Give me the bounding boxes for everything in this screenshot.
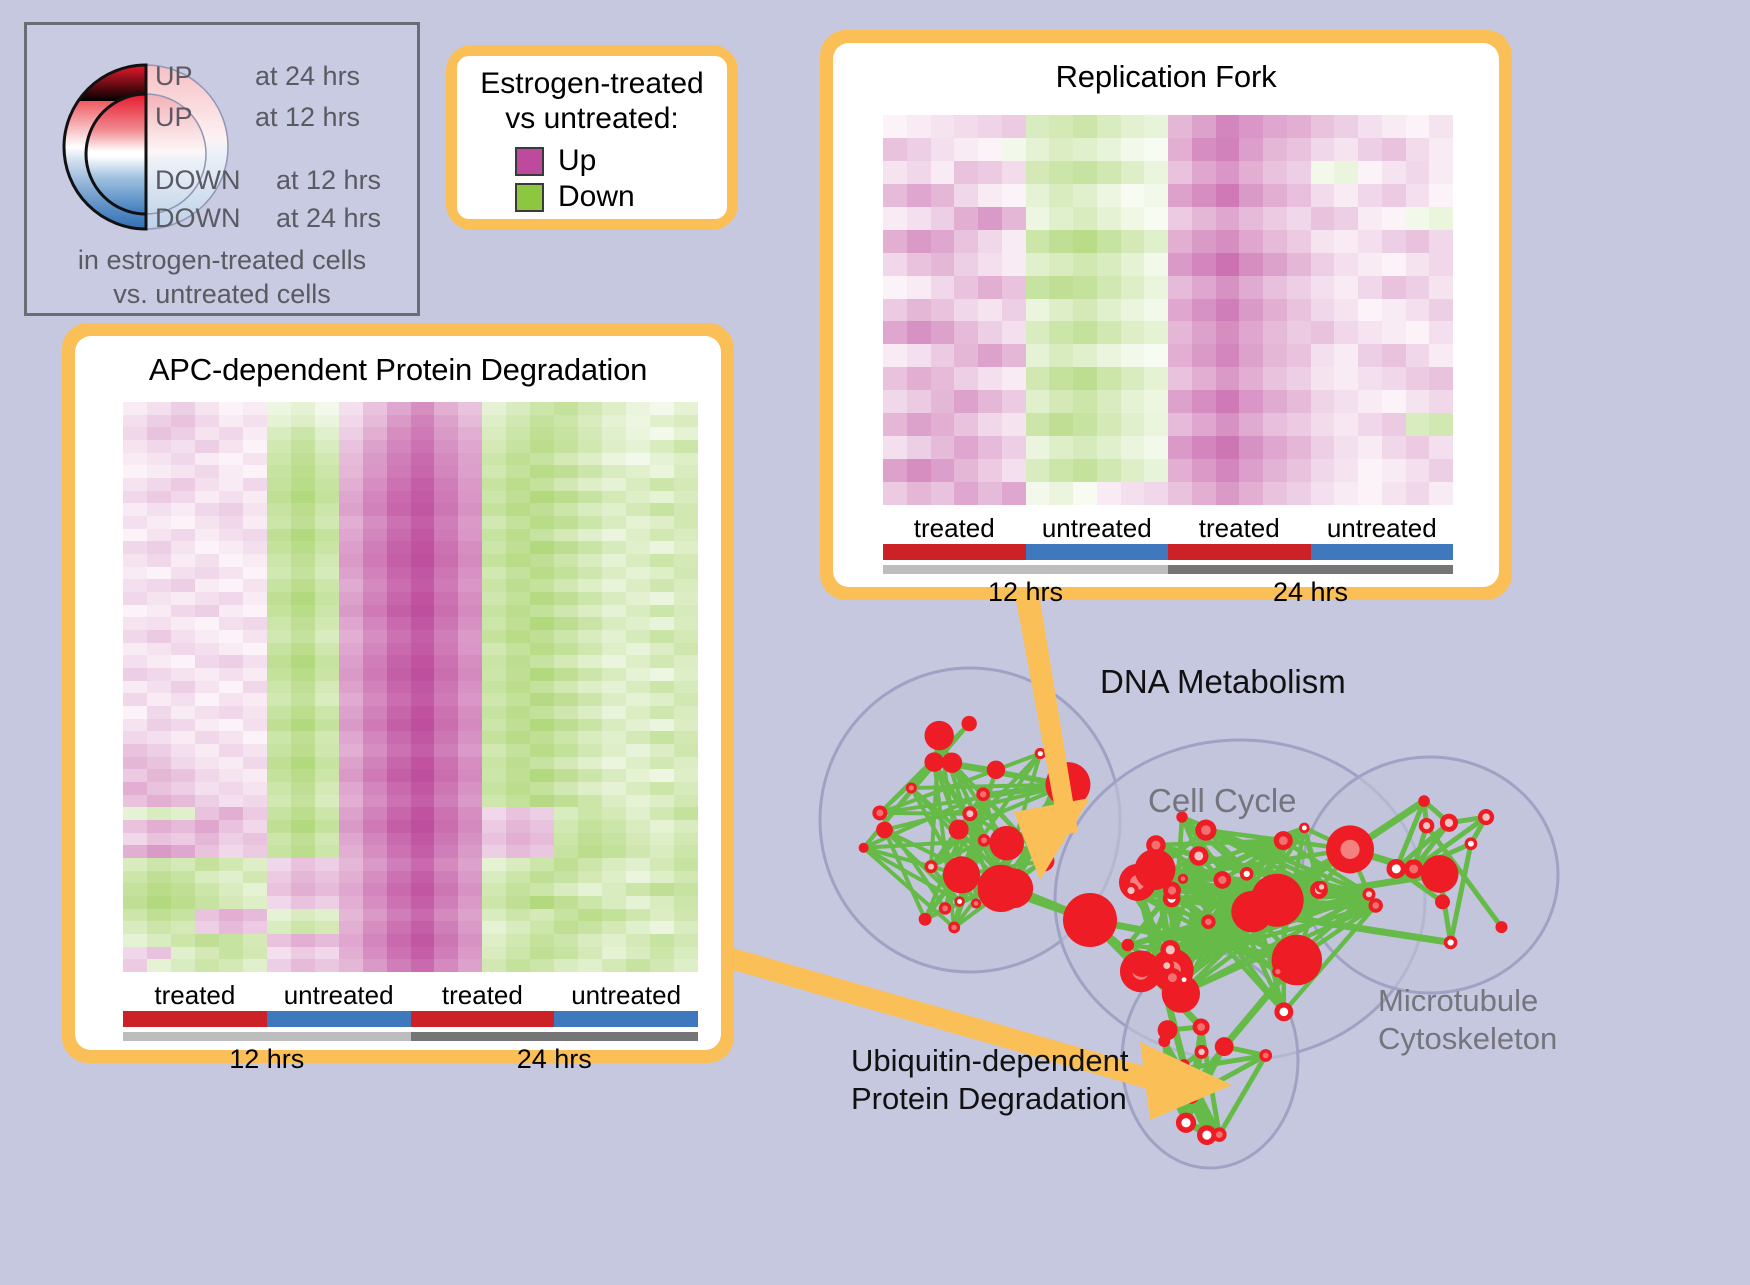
heatmap-cell [482, 909, 506, 922]
heatmap-cell [147, 896, 171, 909]
heatmap-cell [482, 465, 506, 478]
legend-title-line1: Estrogen-treated [457, 66, 727, 101]
heatmap-cell [315, 503, 339, 516]
heatmap-cell [123, 731, 147, 744]
heatmap-cell [434, 883, 458, 896]
heatmap-cell [387, 934, 411, 947]
heatmap-cell [363, 415, 387, 428]
heatmap-cell [1382, 161, 1406, 184]
heatmap-cell [506, 782, 530, 795]
network-node[interactable] [1158, 1035, 1170, 1047]
rf-bar-treated-24 [1168, 544, 1311, 560]
heatmap-cell [602, 427, 626, 440]
heatmap-cell [243, 947, 267, 960]
network-node[interactable] [859, 843, 869, 853]
network-node[interactable] [906, 782, 917, 793]
heatmap-cell [650, 833, 674, 846]
network-node[interactable] [943, 856, 980, 893]
heatmap-cell [434, 605, 458, 618]
network-node[interactable] [978, 834, 991, 847]
heatmap-cell [506, 440, 530, 453]
heatmap-cell [1121, 207, 1145, 230]
heatmap-cell [147, 833, 171, 846]
heatmap-cell [363, 630, 387, 643]
heatmap-cell [602, 453, 626, 466]
network-node[interactable] [1362, 888, 1375, 901]
heatmap-cell [339, 491, 363, 504]
heatmap-cell [315, 934, 339, 947]
heatmap-cell [626, 858, 650, 871]
heatmap-cell [267, 541, 291, 554]
heatmap-cell [1358, 184, 1382, 207]
heatmap-cell [650, 845, 674, 858]
heatmap-cell [1429, 276, 1453, 299]
network-node[interactable] [876, 822, 893, 839]
network-node[interactable] [1163, 882, 1181, 900]
heatmap-cell [219, 617, 243, 630]
heatmap-cell [387, 921, 411, 934]
network-node[interactable] [1326, 825, 1374, 873]
network-node[interactable] [1465, 837, 1478, 850]
heatmap-cell [458, 681, 482, 694]
heatmap-cell [171, 503, 195, 516]
heatmap-cell [626, 820, 650, 833]
heatmap-cell [267, 402, 291, 415]
heatmap-cell [123, 833, 147, 846]
heatmap-cell [650, 782, 674, 795]
heatmap-cell [363, 959, 387, 972]
network-node[interactable] [942, 752, 962, 772]
network-node[interactable] [1159, 958, 1174, 973]
heatmap-cell [219, 681, 243, 694]
network-node[interactable] [962, 806, 977, 821]
heatmap-cell [1216, 207, 1240, 230]
heatmap-cell [1097, 367, 1121, 390]
heatmap-cell [482, 402, 506, 415]
heatmap-cell [219, 833, 243, 846]
network-node[interactable] [1240, 867, 1254, 881]
heatmap-cell [626, 630, 650, 643]
network-node[interactable] [1444, 936, 1458, 950]
heatmap-cell [1097, 207, 1121, 230]
heatmap-cell [482, 541, 506, 554]
heatmap-cell [363, 909, 387, 922]
network-node[interactable] [1000, 883, 1019, 902]
heatmap-cell [315, 947, 339, 960]
heatmap-cell [1026, 161, 1050, 184]
heatmap-cell [1334, 321, 1358, 344]
heatmap-cell [1073, 367, 1097, 390]
heatmap-cell [1002, 321, 1026, 344]
heatmap-cell [243, 909, 267, 922]
heatmap-cell [578, 655, 602, 668]
heatmap-cell [650, 554, 674, 567]
network-node[interactable] [872, 805, 887, 820]
network-node[interactable] [1299, 823, 1310, 834]
heatmap-cell [315, 465, 339, 478]
heatmap-cell [219, 554, 243, 567]
heatmap-cell [219, 643, 243, 656]
heatmap-cell [339, 706, 363, 719]
heatmap-cell [123, 719, 147, 732]
heatmap-cell [339, 757, 363, 770]
heatmap-cell [291, 757, 315, 770]
heatmap-cell [291, 554, 315, 567]
heatmap-cell [315, 605, 339, 618]
heatmap-cell [1406, 138, 1430, 161]
heatmap-cell [650, 858, 674, 871]
heatmap-cell [1073, 138, 1097, 161]
heatmap-cell [434, 744, 458, 757]
heatmap-cell [363, 693, 387, 706]
heatmap-cell [171, 833, 195, 846]
heatmap-cell [482, 795, 506, 808]
heatmap-cell [195, 769, 219, 782]
heatmap-cell [339, 478, 363, 491]
heatmap-cell [506, 402, 530, 415]
heatmap-cell [123, 871, 147, 884]
heatmap-cell [363, 757, 387, 770]
heatmap-cell [411, 605, 435, 618]
heatmap-cell [1358, 207, 1382, 230]
network-node[interactable] [976, 787, 990, 801]
network-node[interactable] [987, 761, 1006, 780]
heatmap-cell [1239, 253, 1263, 276]
heatmap-cell [1311, 299, 1335, 322]
heatmap-cell [530, 465, 554, 478]
heatmap-cell [1239, 367, 1263, 390]
heatmap-cell [219, 503, 243, 516]
heatmap-cell [1287, 253, 1311, 276]
heatmap-cell [1144, 138, 1168, 161]
heatmap-cell [626, 427, 650, 440]
heatmap-cell [147, 858, 171, 871]
heatmap-cell [1049, 230, 1073, 253]
network-node[interactable] [1033, 850, 1054, 871]
heatmap-cell [554, 541, 578, 554]
network-node[interactable] [1212, 1127, 1227, 1142]
heatmap-cell [363, 402, 387, 415]
network-node[interactable] [1419, 818, 1434, 833]
heatmap-cell [1382, 253, 1406, 276]
heatmap-cell [1168, 184, 1192, 207]
heatmap-cell [411, 427, 435, 440]
heatmap-cell [530, 681, 554, 694]
heatmap-cell [339, 567, 363, 580]
heatmap-cell [1049, 344, 1073, 367]
heatmap-cell [363, 871, 387, 884]
heatmap-cell [219, 896, 243, 909]
heatmap-cell [458, 592, 482, 605]
heatmap-cell [219, 782, 243, 795]
heatmap-cell [315, 782, 339, 795]
heatmap-cell [387, 731, 411, 744]
heatmap-cell [1002, 367, 1026, 390]
heatmap-cell [195, 440, 219, 453]
heatmap-cell [978, 207, 1002, 230]
heatmap-cell [1049, 482, 1073, 505]
network-node[interactable] [1418, 795, 1430, 807]
apc-time-bars [123, 1032, 698, 1041]
heatmap-cell [602, 567, 626, 580]
heatmap-cell [626, 605, 650, 618]
heatmap-cell [530, 529, 554, 542]
network-node[interactable] [1404, 859, 1423, 878]
network-node[interactable] [1478, 809, 1494, 825]
heatmap-cell [363, 503, 387, 516]
network-node[interactable] [1122, 939, 1135, 952]
heatmap-cell [1144, 344, 1168, 367]
pathway-network-diagram [790, 620, 1590, 1280]
heatmap-cell [1144, 413, 1168, 436]
network-node[interactable] [1153, 1063, 1169, 1079]
network-node[interactable] [1495, 921, 1507, 933]
network-node[interactable] [1179, 974, 1190, 985]
network-node[interactable] [925, 860, 938, 873]
color-key-footer: in estrogen-treated cells vs. untreated … [27, 243, 417, 311]
heatmap-cell [883, 184, 907, 207]
heatmap-cell [243, 465, 267, 478]
network-node[interactable] [1189, 846, 1209, 866]
network-node[interactable] [939, 902, 952, 915]
network-node[interactable] [1063, 893, 1117, 947]
heatmap-cell [171, 643, 195, 656]
network-node[interactable] [1231, 891, 1273, 933]
network-node[interactable] [1179, 1059, 1190, 1070]
heatmap-cell [1192, 367, 1216, 390]
heatmap-cell [554, 655, 578, 668]
heatmap-cell [578, 491, 602, 504]
color-key-box: UP at 24 hrs UP at 12 hrs DOWN at 12 hrs… [24, 22, 420, 316]
heatmap-cell [530, 567, 554, 580]
heatmap-cell [1168, 482, 1192, 505]
network-node[interactable] [1130, 953, 1154, 977]
network-node[interactable] [1160, 940, 1180, 960]
heatmap-cell [931, 161, 955, 184]
heatmap-cell [195, 947, 219, 960]
heatmap-cell [578, 503, 602, 516]
heatmap-cell [1192, 436, 1216, 459]
heatmap-cell [219, 807, 243, 820]
heatmap-cell [1097, 413, 1121, 436]
heatmap-cell [482, 415, 506, 428]
heatmap-cell [1239, 436, 1263, 459]
heatmap-cell [339, 693, 363, 706]
heatmap-cell [674, 782, 698, 795]
heatmap-cell [434, 643, 458, 656]
heatmap-cell [1002, 299, 1026, 322]
heatmap-cell [387, 668, 411, 681]
heatmap-cell [650, 655, 674, 668]
network-node[interactable] [1274, 831, 1293, 850]
heatmap-cell [339, 769, 363, 782]
network-node[interactable] [1435, 894, 1450, 909]
heatmap-cell [434, 567, 458, 580]
network-node[interactable] [1239, 901, 1252, 914]
heatmap-cell [291, 706, 315, 719]
heatmap-cell [411, 883, 435, 896]
heatmap-cell [1239, 230, 1263, 253]
network-node[interactable] [1316, 881, 1328, 893]
heatmap-cell [1097, 299, 1121, 322]
heatmap-cell [1049, 138, 1073, 161]
network-node[interactable] [1195, 820, 1216, 841]
heatmap-cell [506, 909, 530, 922]
heatmap-cell [674, 541, 698, 554]
network-node[interactable] [1054, 779, 1066, 791]
heatmap-cell [315, 845, 339, 858]
heatmap-cell [1121, 321, 1145, 344]
heatmap-cell [291, 858, 315, 871]
network-node[interactable] [1035, 748, 1046, 759]
heatmap-cell [554, 947, 578, 960]
network-node[interactable] [925, 721, 954, 750]
heatmap-cell [907, 413, 931, 436]
heatmap-cell [1026, 138, 1050, 161]
heatmap-cell [1097, 230, 1121, 253]
heatmap-cell [650, 491, 674, 504]
heatmap-cell [458, 947, 482, 960]
network-node[interactable] [1215, 1037, 1234, 1056]
heatmap-cell [578, 757, 602, 770]
heatmap-cell [171, 807, 195, 820]
network-node[interactable] [1213, 871, 1231, 889]
heatmap-cell [1168, 367, 1192, 390]
heatmap-cell [1002, 482, 1026, 505]
network-node[interactable] [919, 913, 932, 926]
heatmap-cell [530, 845, 554, 858]
network-node[interactable] [1272, 935, 1323, 986]
heatmap-cell [602, 668, 626, 681]
network-node[interactable] [1421, 855, 1459, 893]
heatmap-cell [931, 115, 955, 138]
network-node[interactable] [954, 896, 965, 907]
network-node[interactable] [1193, 1018, 1210, 1035]
network-node[interactable] [949, 820, 969, 840]
apc-title: APC-dependent Protein Degradation [75, 336, 721, 388]
heatmap-cell [1334, 436, 1358, 459]
network-node[interactable] [1176, 1113, 1196, 1133]
heatmap-cell [482, 896, 506, 909]
heatmap-cell [171, 427, 195, 440]
heatmap-cell [602, 947, 626, 960]
heatmap-cell [650, 592, 674, 605]
network-node[interactable] [981, 879, 1002, 900]
network-node[interactable] [1201, 915, 1215, 929]
heatmap-cell [602, 782, 626, 795]
heatmap-cell [387, 706, 411, 719]
heatmap-cell [554, 782, 578, 795]
heatmap-cell [147, 921, 171, 934]
network-node[interactable] [1272, 966, 1283, 977]
heatmap-cell [578, 959, 602, 972]
heatmap-cell [1073, 436, 1097, 459]
network-node[interactable] [971, 898, 981, 908]
heatmap-cell [954, 184, 978, 207]
heatmap-cell [954, 138, 978, 161]
apc-bar-untreated-12 [267, 1011, 411, 1027]
heatmap-cell [482, 820, 506, 833]
heatmap-cell [123, 947, 147, 960]
network-node[interactable] [989, 826, 1024, 861]
heatmap-cell [171, 731, 195, 744]
heatmap-cell [1049, 207, 1073, 230]
heatmap-cell [123, 769, 147, 782]
heatmap-cell [458, 554, 482, 567]
network-node[interactable] [1123, 883, 1139, 899]
heatmap-cell [411, 554, 435, 567]
network-node[interactable] [1387, 859, 1407, 879]
rf-group-labels: treated untreated treated untreated [883, 513, 1453, 544]
heatmap-cell [554, 820, 578, 833]
heatmap-cell [626, 478, 650, 491]
heatmap-cell [315, 883, 339, 896]
heatmap-cell [123, 706, 147, 719]
heatmap-cell [1192, 413, 1216, 436]
network-node[interactable] [1184, 1089, 1199, 1104]
heatmap-cell [243, 706, 267, 719]
heatmap-cell [195, 744, 219, 757]
heatmap-cell [339, 630, 363, 643]
heatmap-cell [363, 795, 387, 808]
heatmap-cell [219, 592, 243, 605]
heatmap-cell [1287, 344, 1311, 367]
heatmap-cell [1311, 253, 1335, 276]
heatmap-cell [578, 782, 602, 795]
heatmap-cell [482, 769, 506, 782]
heatmap-cell [387, 655, 411, 668]
heatmap-cell [123, 655, 147, 668]
heatmap-cell [243, 541, 267, 554]
heatmap-cell [1121, 436, 1145, 459]
network-node[interactable] [1440, 814, 1458, 832]
heatmap-cell [267, 529, 291, 542]
heatmap-cell [387, 833, 411, 846]
network-node[interactable] [1195, 1045, 1209, 1059]
heatmap-cell [482, 668, 506, 681]
heatmap-cell [650, 731, 674, 744]
heatmap-cell [626, 491, 650, 504]
heatmap-cell [219, 871, 243, 884]
heatmap-cell [482, 630, 506, 643]
heatmap-cell [626, 693, 650, 706]
network-node[interactable] [1146, 835, 1165, 854]
heatmap-cell [387, 858, 411, 871]
heatmap-cell [674, 655, 698, 668]
heatmap-cell [219, 947, 243, 960]
heatmap-cell [1263, 184, 1287, 207]
heatmap-cell [171, 415, 195, 428]
apc-group-label-0: treated [123, 980, 267, 1011]
network-node[interactable] [1274, 1002, 1293, 1021]
heatmap-cell [219, 529, 243, 542]
heatmap-cell [626, 769, 650, 782]
network-node[interactable] [1259, 1049, 1272, 1062]
rf-time-bars [883, 565, 1453, 574]
network-node[interactable] [1178, 874, 1188, 884]
heatmap-cell [1311, 321, 1335, 344]
network-node[interactable] [948, 922, 960, 934]
heatmap-cell [1026, 390, 1050, 413]
heatmap-cell [1216, 390, 1240, 413]
heatmap-cell [434, 453, 458, 466]
heatmap-cell [363, 896, 387, 909]
network-node[interactable] [961, 716, 976, 731]
heatmap-cell [1192, 115, 1216, 138]
heatmap-cell [554, 706, 578, 719]
network-node[interactable] [924, 752, 944, 772]
heatmap-cell [1239, 299, 1263, 322]
